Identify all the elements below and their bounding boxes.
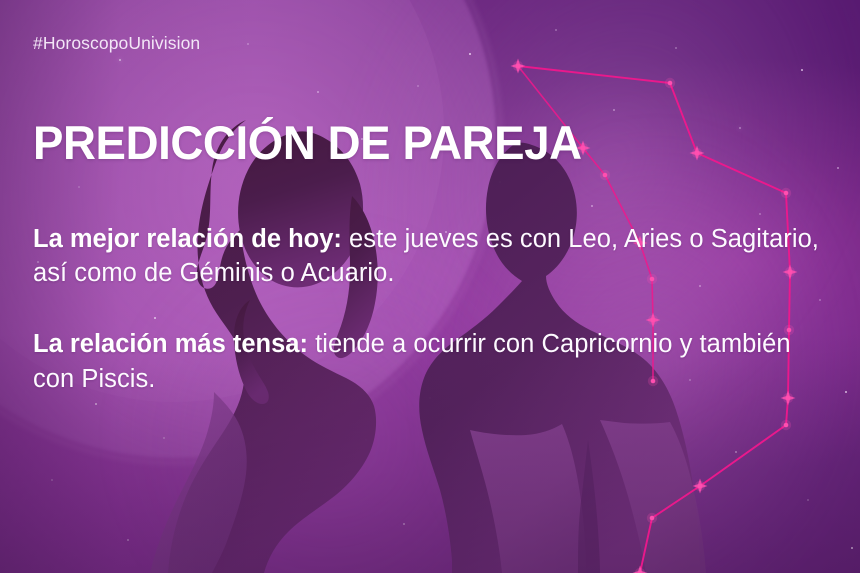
prediction-paragraph-tense: La relación más tensa: tiende a ocurrir … <box>33 327 833 396</box>
prediction-lead-tense: La relación más tensa: <box>33 330 308 358</box>
horoscope-card: #HoroscopoUnivision PREDICCIÓN DE PAREJA… <box>0 0 860 573</box>
prediction-lead-best: La mejor relación de hoy: <box>33 225 342 253</box>
content-layer: #HoroscopoUnivision PREDICCIÓN DE PAREJA… <box>0 0 860 573</box>
prediction-paragraph-best: La mejor relación de hoy: este jueves es… <box>33 222 833 291</box>
prediction-body: La mejor relación de hoy: este jueves es… <box>33 196 833 422</box>
hashtag-label: #HoroscopoUnivision <box>33 33 200 54</box>
page-title: PREDICCIÓN DE PAREJA <box>33 119 582 167</box>
